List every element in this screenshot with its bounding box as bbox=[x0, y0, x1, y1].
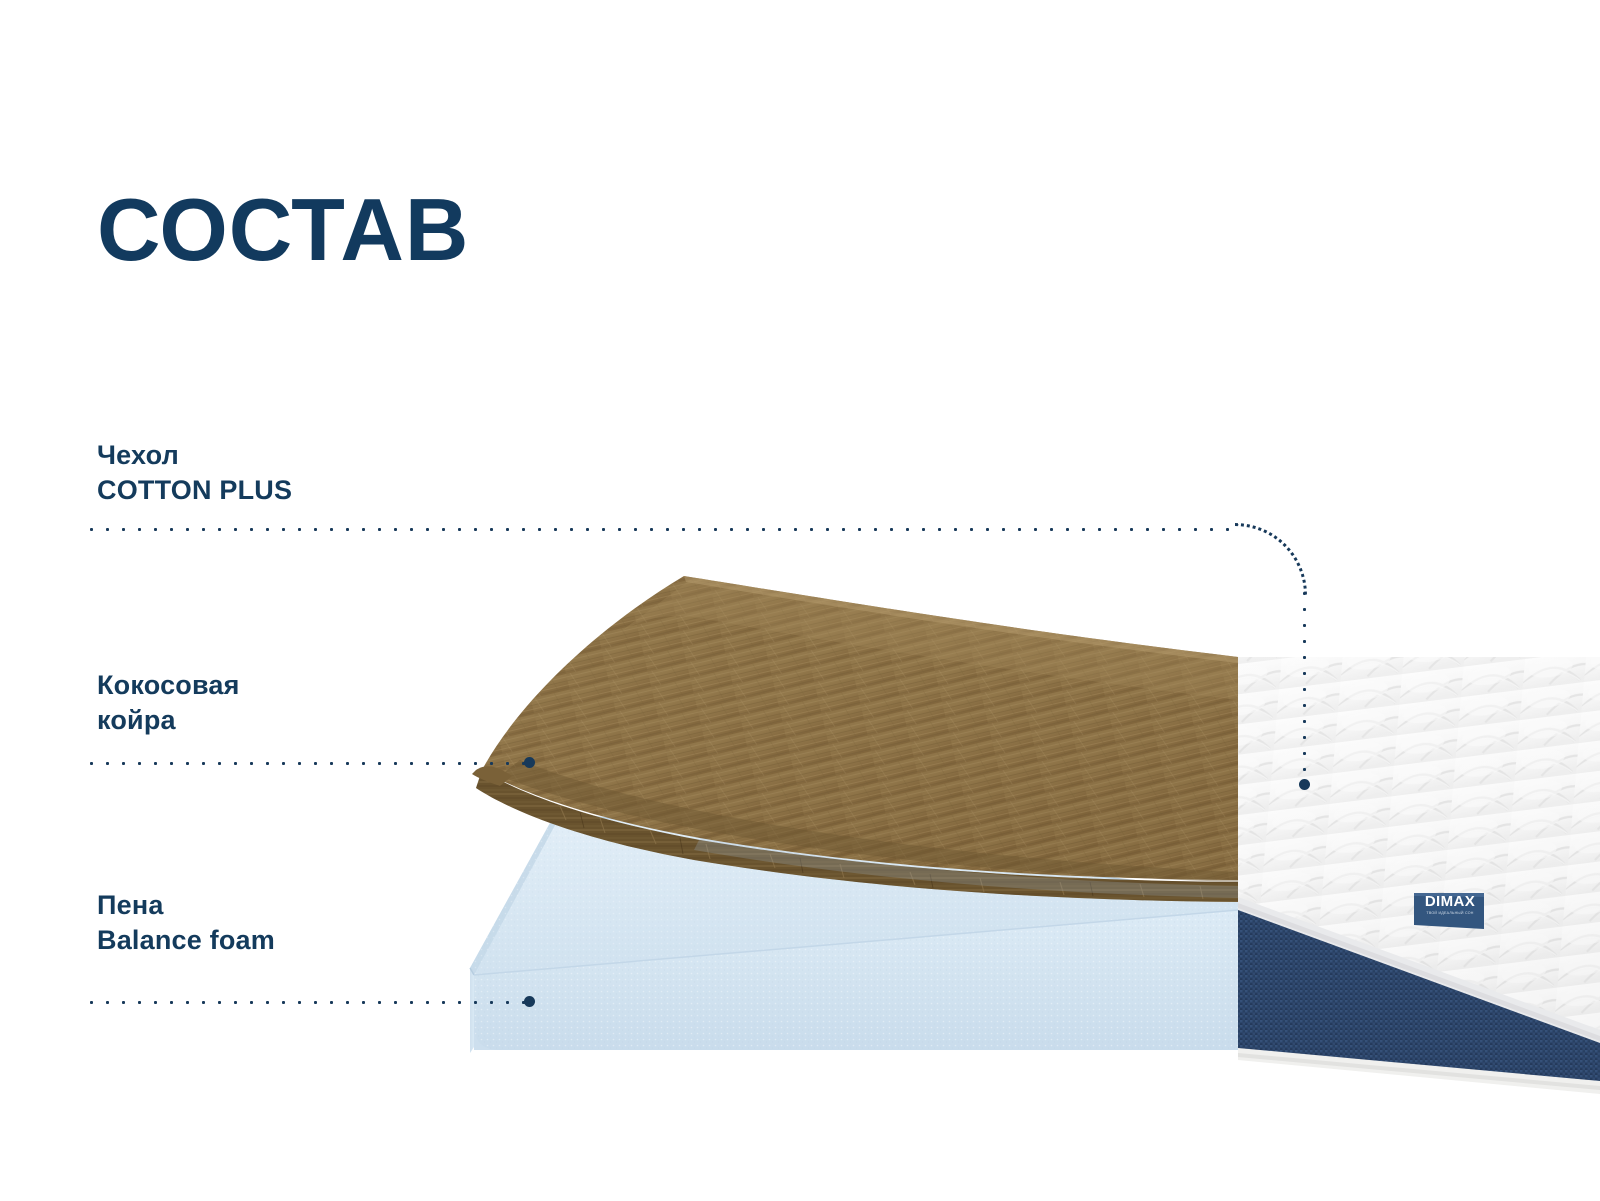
brand-tagline: ТВОЙ ИДЕАЛЬНЫЙ СОН bbox=[1417, 912, 1483, 916]
label-coir: Кокосовая койра bbox=[97, 668, 240, 737]
leader-dot-foam bbox=[524, 996, 535, 1007]
mattress-side-panel bbox=[1238, 910, 1600, 1094]
label-foam-line1: Пена bbox=[97, 888, 275, 923]
leader-line-cover-horizontal bbox=[90, 528, 1240, 531]
label-cover: Чехол COTTON PLUS bbox=[97, 438, 292, 507]
label-foam: Пена Balance foam bbox=[97, 888, 275, 957]
label-foam-line2: Balance foam bbox=[97, 923, 275, 958]
foam-layer bbox=[470, 812, 1238, 1053]
leader-line-foam bbox=[90, 1001, 530, 1004]
leader-line-coir bbox=[90, 762, 530, 765]
leader-dot-coir bbox=[524, 757, 535, 768]
mattress-cover-layer bbox=[1238, 657, 1600, 1046]
leader-dot-cover bbox=[1299, 779, 1310, 790]
label-coir-line2: койра bbox=[97, 703, 240, 738]
brand-logo-text: DIMAX bbox=[1417, 894, 1483, 909]
leader-line-cover-curve bbox=[1235, 523, 1307, 595]
leader-line-cover-vertical bbox=[1303, 592, 1306, 782]
label-coir-line1: Кокосовая bbox=[97, 668, 240, 703]
coir-layer bbox=[472, 576, 1238, 902]
brand-logo: DIMAX ТВОЙ ИДЕАЛЬНЫЙ СОН bbox=[1417, 894, 1483, 915]
page-title: СОСТАВ bbox=[97, 186, 469, 274]
label-cover-line1: Чехол bbox=[97, 438, 292, 473]
label-cover-line2: COTTON PLUS bbox=[97, 473, 292, 508]
